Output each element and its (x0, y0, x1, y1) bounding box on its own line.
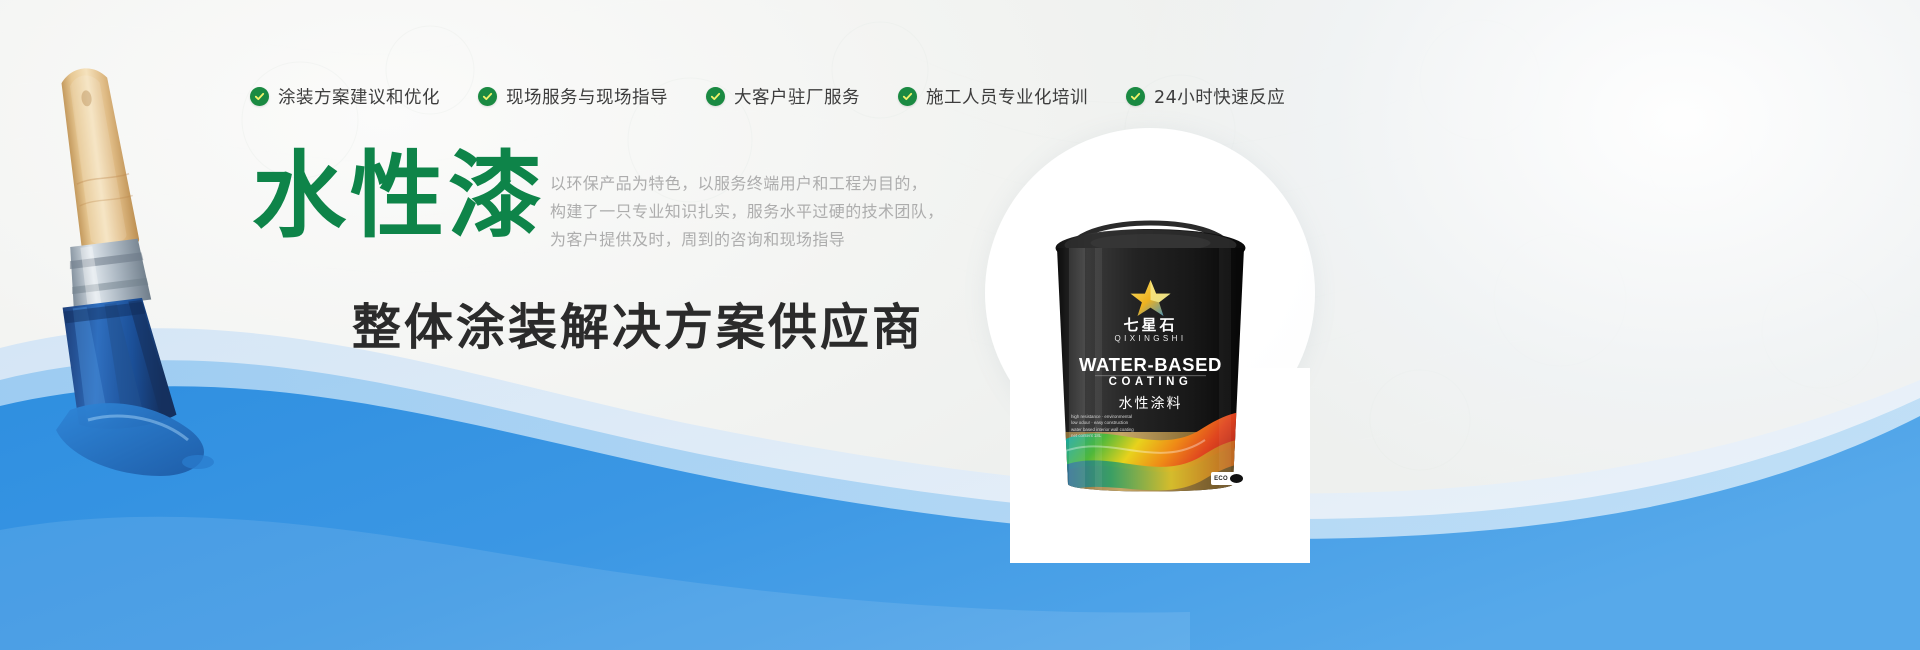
check-circle-icon (250, 87, 269, 106)
check-circle-icon (706, 87, 725, 106)
page-title: 水性漆 (252, 150, 546, 244)
feature-item[interactable]: 24小时快速反应 (1126, 84, 1285, 109)
check-circle-icon (898, 87, 917, 106)
hero-banner: 涂装方案建议和优化 现场服务与现场指导 大客户驻厂服务 施工人员专业化培训 24… (0, 0, 1920, 650)
feature-label: 涂装方案建议和优化 (278, 84, 440, 109)
feature-label: 现场服务与现场指导 (506, 84, 668, 109)
feature-label: 大客户驻厂服务 (734, 84, 860, 109)
check-circle-icon (1126, 87, 1145, 106)
product-showcase: 七星石 QIXINGSHI WATER-BASED COATING 水性涂料 h… (985, 128, 1315, 448)
feature-item[interactable]: 施工人员专业化培训 (898, 84, 1088, 109)
feature-item[interactable]: 现场服务与现场指导 (478, 84, 668, 109)
page-subtitle: 整体涂装解决方案供应商 (352, 288, 924, 359)
feature-list: 涂装方案建议和优化 现场服务与现场指导 大客户驻厂服务 施工人员专业化培训 24… (250, 84, 1323, 109)
description-line: 为客户提供及时，周到的咨询和现场指导 (550, 226, 950, 254)
feature-label: 施工人员专业化培训 (926, 84, 1088, 109)
description-line: 以环保产品为特色，以服务终端用户和工程为目的， (550, 170, 950, 198)
description-paragraph: 以环保产品为特色，以服务终端用户和工程为目的， 构建了一只专业知识扎实，服务水平… (550, 170, 950, 254)
description-line: 构建了一只专业知识扎实，服务水平过硬的技术团队， (550, 198, 950, 226)
feature-item[interactable]: 大客户驻厂服务 (706, 84, 860, 109)
feature-label: 24小时快速反应 (1154, 84, 1285, 109)
feature-item[interactable]: 涂装方案建议和优化 (250, 84, 440, 109)
paint-bucket-image (1043, 196, 1258, 501)
wave-decoration (0, 230, 1920, 650)
check-circle-icon (478, 87, 497, 106)
paintbrush-illustration (48, 58, 278, 478)
